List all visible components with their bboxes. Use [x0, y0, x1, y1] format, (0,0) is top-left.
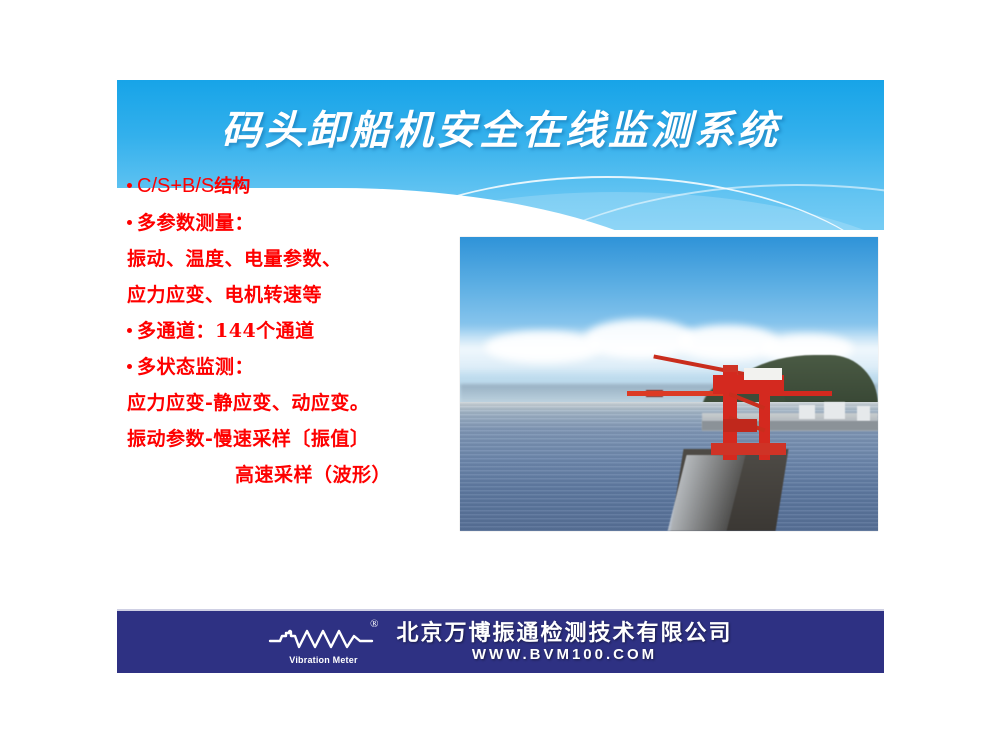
list-item: 高速采样（波形） [127, 457, 487, 493]
list-item-label: 多参数测量： [137, 212, 254, 234]
footer-bar: ® Vibration Meter 北京万博振通检测技术有限公司 WWW.BVM… [117, 609, 884, 673]
list-item: 多通道：144个通道 [127, 313, 487, 349]
list-item: C/S+B/S结构 [127, 168, 487, 205]
list-item: 振动参数-慢速采样〔振值〕 [127, 421, 487, 457]
photo-crane-sign [744, 368, 782, 380]
harbor-crane-photo [460, 237, 878, 531]
list-item: 振动、温度、电量参数、 [127, 241, 487, 277]
company-logo: ® Vibration Meter [268, 619, 380, 665]
photo-building [857, 406, 870, 421]
bullet-dot-icon [127, 364, 132, 369]
list-item-label: C/S+B/S [137, 175, 214, 197]
list-item-label: 多状态监测： [137, 356, 254, 378]
footer-content: ® Vibration Meter 北京万博振通检测技术有限公司 WWW.BVM… [117, 611, 884, 673]
list-item-label: 多通道：144个通道 [137, 320, 315, 342]
bullet-dot-icon [127, 183, 132, 188]
list-item: 应力应变-静应变、动应变。 [127, 385, 487, 421]
company-website: WWW.BVM100.COM [472, 647, 657, 663]
list-item: 应力应变、电机转速等 [127, 277, 487, 313]
list-item-label: 应力应变-静应变、动应变。 [127, 392, 369, 414]
bullet-list: C/S+B/S结构 多参数测量： 振动、温度、电量参数、 应力应变、电机转速等 … [127, 168, 487, 493]
list-item-label: 振动、温度、电量参数、 [127, 248, 342, 270]
slide-root: 码头卸船机安全在线监测系统 C/S+B/S结构 多参数测量： 振动、温度、电量参… [0, 0, 1000, 750]
bullet-dot-icon [127, 328, 132, 333]
slide-canvas: 码头卸船机安全在线监测系统 C/S+B/S结构 多参数测量： 振动、温度、电量参… [117, 80, 884, 672]
company-name: 北京万博振通检测技术有限公司 [396, 622, 732, 645]
list-item: 多参数测量： [127, 205, 487, 241]
vibration-wave-logo-icon [268, 627, 376, 651]
page-title: 码头卸船机安全在线监测系统 [117, 98, 884, 156]
list-item-label-cjk: 结构 [214, 176, 250, 197]
list-item: 多状态监测： [127, 349, 487, 385]
list-item-label: 振动参数-慢速采样〔振值〕 [127, 428, 369, 450]
list-item-label: 应力应变、电机转速等 [127, 284, 322, 306]
footer-text-group: 北京万博振通检测技术有限公司 WWW.BVM100.COM [396, 622, 732, 663]
photo-building [799, 405, 816, 420]
photo-building [824, 402, 845, 420]
photo-crane-cab [723, 419, 756, 432]
logo-subtitle: Vibration Meter [270, 655, 376, 665]
photo-crane-base [711, 443, 786, 455]
list-item-label: 高速采样（波形） [235, 464, 391, 486]
bullet-dot-icon [127, 220, 132, 225]
